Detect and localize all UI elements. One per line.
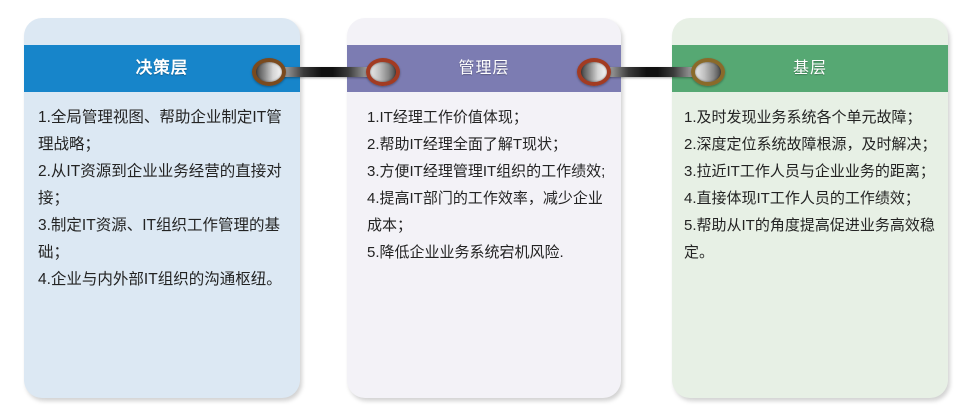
panel-header-base-layer: 基层 xyxy=(672,45,948,92)
list-item: 3.方便IT经理管理IT组织的工作绩效; xyxy=(367,158,611,185)
panel-body-management-layer: 1.IT经理工作价值体现； 2.帮助IT经理全面了解T现状； 3.方便IT经理管… xyxy=(347,92,621,266)
list-item: 1.及时发现业务系统各个单元故障； xyxy=(684,104,942,131)
panel-item-list-decision-layer: 1.全局管理视图、帮助企业制定IT管理战略； 2.从IT资源到企业业务经营的直接… xyxy=(38,104,290,293)
panel-item-list-base-layer: 1.及时发现业务系统各个单元故障； 2.深度定位系统故障根源，及时解决； 3.拉… xyxy=(684,104,942,266)
panel-title-management-layer: 管理层 xyxy=(458,61,509,77)
list-item: 1.全局管理视图、帮助企业制定IT管理战略； xyxy=(38,104,290,158)
list-item: 3.制定IT资源、IT组织工作管理的基础； xyxy=(38,212,290,266)
panel-header-management-layer: 管理层 xyxy=(347,45,621,92)
panel-item-list-management-layer: 1.IT经理工作价值体现； 2.帮助IT经理全面了解T现状； 3.方便IT经理管… xyxy=(367,104,611,266)
panel-management-layer[interactable]: 管理层 1.IT经理工作价值体现； 2.帮助IT经理全面了解T现状； 3.方便I… xyxy=(347,18,621,398)
panel-decision-layer[interactable]: 决策层 1.全局管理视图、帮助企业制定IT管理战略； 2.从IT资源到企业业务经… xyxy=(24,18,300,398)
list-item: 4.企业与内外部IT组织的沟通枢纽。 xyxy=(38,266,290,293)
panel-body-decision-layer: 1.全局管理视图、帮助企业制定IT管理战略； 2.从IT资源到企业业务经营的直接… xyxy=(24,92,300,293)
list-item: 5.帮助从IT的角度提高促进业务高效稳定。 xyxy=(684,212,942,266)
diagram-canvas: 决策层 1.全局管理视图、帮助企业制定IT管理战略； 2.从IT资源到企业业务经… xyxy=(0,0,960,416)
list-item: 2.帮助IT经理全面了解T现状； xyxy=(367,131,611,158)
panel-base-layer[interactable]: 基层 1.及时发现业务系统各个单元故障； 2.深度定位系统故障根源，及时解决； … xyxy=(672,18,948,398)
panel-title-base-layer: 基层 xyxy=(793,61,827,77)
list-item: 1.IT经理工作价值体现； xyxy=(367,104,611,131)
list-item: 4.直接体现IT工作人员的工作绩效； xyxy=(684,185,942,212)
list-item: 3.拉近IT工作人员与企业业务的距离； xyxy=(684,158,942,185)
list-item: 2.从IT资源到企业业务经营的直接对接； xyxy=(38,158,290,212)
list-item: 2.深度定位系统故障根源，及时解决； xyxy=(684,131,942,158)
panel-header-decision-layer: 决策层 xyxy=(24,45,300,92)
list-item: 5.降低企业业务系统宕机风险. xyxy=(367,239,611,266)
panel-title-decision-layer: 决策层 xyxy=(136,60,189,77)
panel-body-base-layer: 1.及时发现业务系统各个单元故障； 2.深度定位系统故障根源，及时解决； 3.拉… xyxy=(672,92,948,266)
list-item: 4.提高IT部门的工作效率，减少企业成本； xyxy=(367,185,611,239)
